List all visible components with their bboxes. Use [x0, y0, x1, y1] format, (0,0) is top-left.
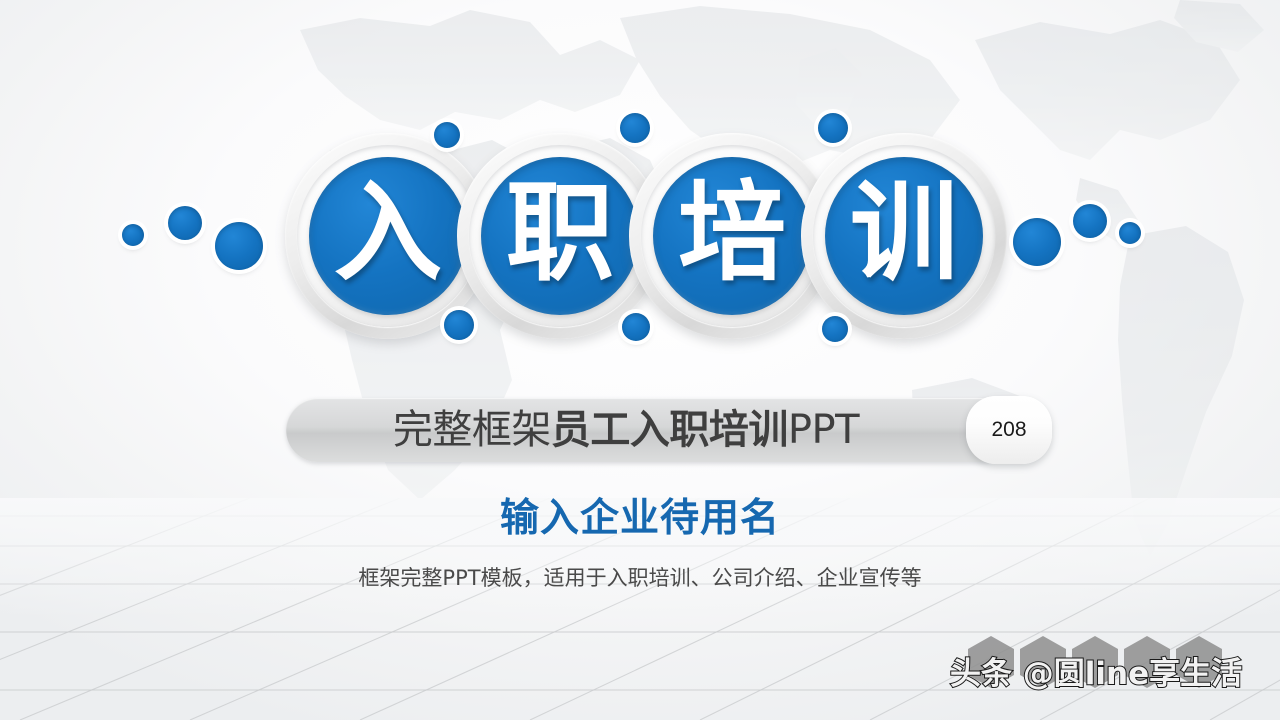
decorative-dot-bottom-1	[444, 310, 474, 340]
page-count-badge: 208	[966, 396, 1052, 464]
title-char-4: 训	[850, 180, 958, 288]
ring-disc: 训	[825, 157, 983, 315]
hexagon-icon	[1072, 636, 1118, 688]
decorative-dot-small-right	[1119, 222, 1141, 244]
title-char-1: 入	[334, 180, 442, 288]
title-ring-cluster: 入 职 培 训	[0, 0, 1280, 720]
decorative-dot-top-2	[620, 113, 650, 143]
title-circle-4: 训	[801, 133, 1007, 339]
decorative-dot-medium-left	[168, 206, 202, 240]
ring-outer	[285, 133, 491, 339]
slide-tagline: 框架完整PPT模板，适用于入职培训、公司介绍、企业宣传等	[0, 562, 1280, 592]
company-name-placeholder: 输入企业待用名	[0, 487, 1280, 543]
decorative-dot-bottom-3	[822, 316, 848, 342]
watermark-hexagon-icons	[968, 636, 1222, 688]
ring-outer	[457, 133, 663, 339]
hexagon-icon	[1176, 636, 1222, 688]
decorative-dot-large-right	[1013, 218, 1061, 266]
decorative-dot-medium-right	[1073, 204, 1107, 238]
decorative-dot-large-left	[215, 222, 263, 270]
ring-inner	[469, 145, 651, 327]
ring-outer	[629, 133, 835, 339]
subtitle-text: 完整框架员工入职培训PPT	[393, 410, 859, 450]
hexagon-icon	[1020, 636, 1066, 688]
decorative-dot-top-3	[818, 113, 848, 143]
subtitle-prefix: 完整框架	[393, 407, 551, 453]
ring-outer	[801, 133, 1007, 339]
subtitle-bar: 完整框架员工入职培训PPT	[286, 398, 1012, 462]
ring-inner	[813, 145, 995, 327]
subtitle-emphasis: 员工入职培训	[551, 407, 788, 453]
decorative-dot-small-left	[122, 224, 144, 246]
decorative-dot-bottom-2	[622, 313, 650, 341]
hexagon-icon	[1124, 636, 1170, 688]
presentation-slide: 入 职 培 训	[0, 0, 1280, 720]
watermark: 头条 @圆line享生活	[950, 636, 1270, 700]
title-circle-1: 入	[285, 133, 491, 339]
world-map-background	[0, 0, 1280, 720]
subtitle-suffix: PPT	[788, 407, 859, 453]
title-char-2: 职	[506, 180, 614, 288]
badge-value: 208	[991, 418, 1026, 442]
watermark-text: 头条 @圆line享生活	[950, 648, 1270, 693]
ring-inner	[641, 145, 823, 327]
ring-disc: 培	[653, 157, 811, 315]
title-char-3: 培	[678, 180, 786, 288]
ring-disc: 职	[481, 157, 639, 315]
ring-disc: 入	[309, 157, 467, 315]
ring-inner	[297, 145, 479, 327]
title-circle-3: 培	[629, 133, 835, 339]
title-circle-2: 职	[457, 133, 663, 339]
hexagon-icon	[968, 636, 1014, 688]
decorative-dot-top-1	[434, 122, 460, 148]
